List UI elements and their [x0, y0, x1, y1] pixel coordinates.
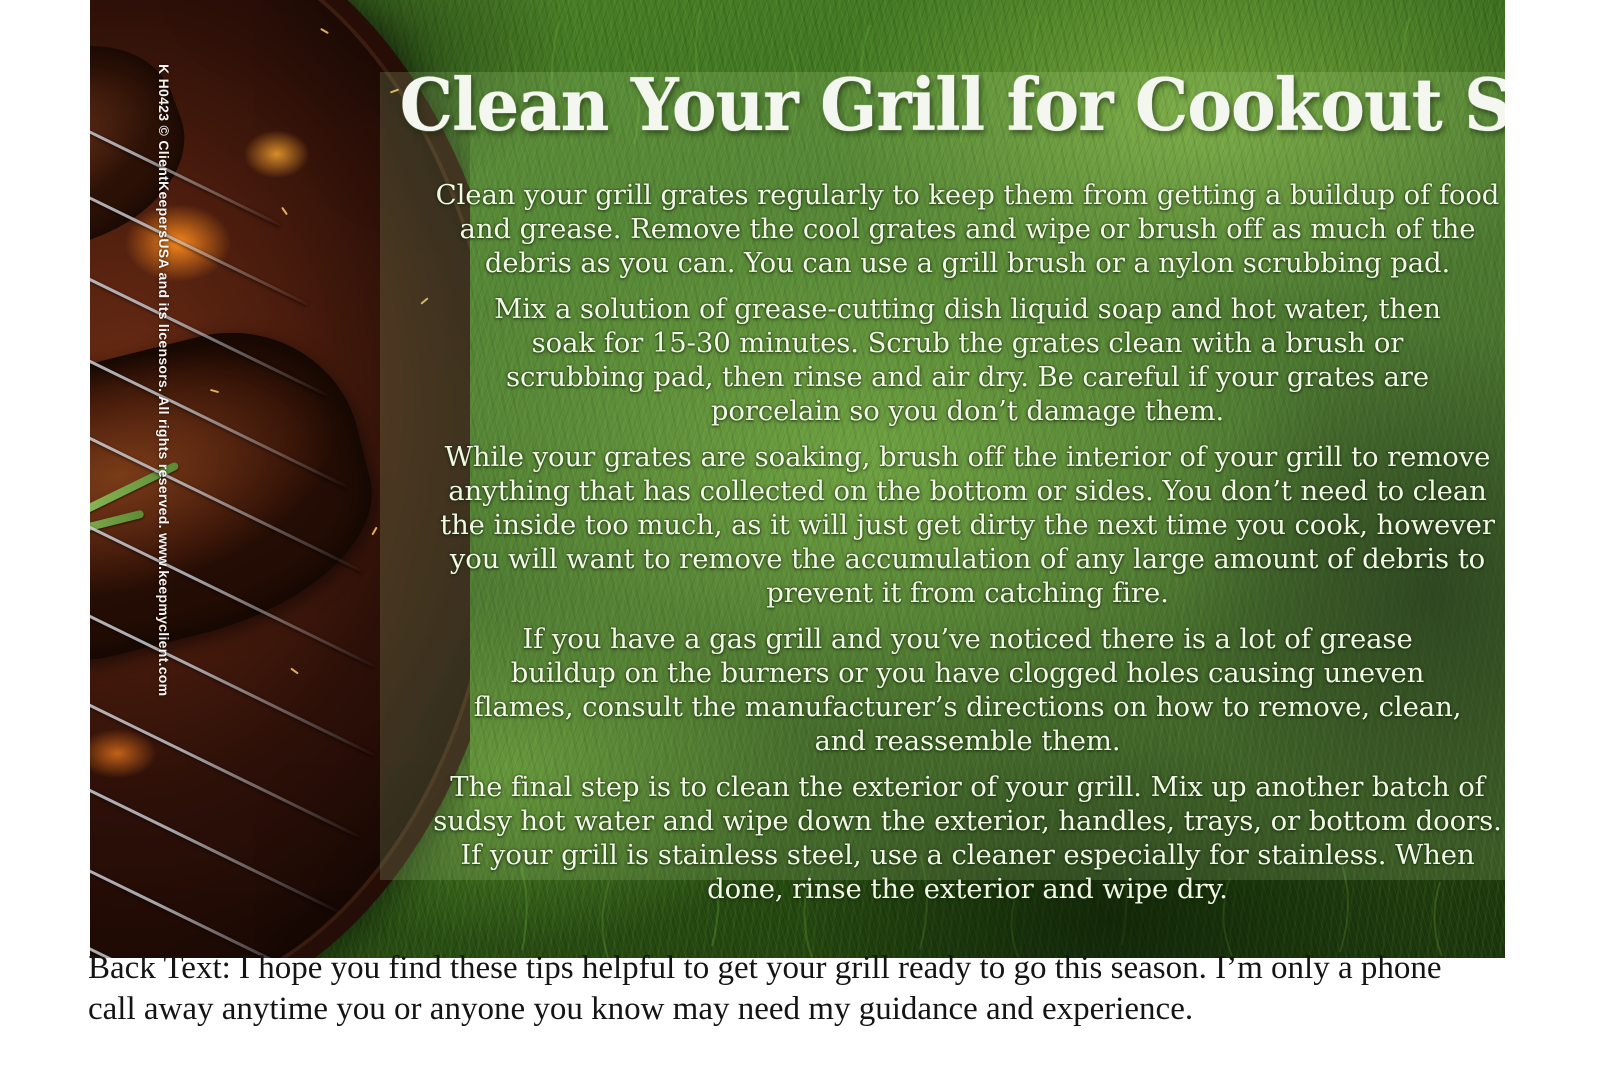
back-text: Back Text: I hope you find these tips he…	[88, 948, 1478, 1030]
copyright-credit: K H0423 © ClientKeepersUSA and its licen…	[156, 64, 172, 696]
paragraph: Clean your grill grates regularly to kee…	[420, 178, 1505, 280]
postcard-page: Clean Your Grill for Cookout Season Clea…	[0, 0, 1600, 1088]
postcard-image: Clean Your Grill for Cookout Season Clea…	[90, 0, 1505, 958]
paragraph: The final step is to clean the exterior …	[420, 770, 1505, 906]
page-title: Clean Your Grill for Cookout Season	[400, 66, 1456, 144]
paragraph: Mix a solution of grease-cutting dish li…	[420, 292, 1505, 428]
paragraph: While your grates are soaking, brush off…	[420, 440, 1505, 610]
paragraph: If you have a gas grill and you’ve notic…	[420, 622, 1505, 758]
body-copy: Clean your grill grates regularly to kee…	[420, 178, 1505, 906]
